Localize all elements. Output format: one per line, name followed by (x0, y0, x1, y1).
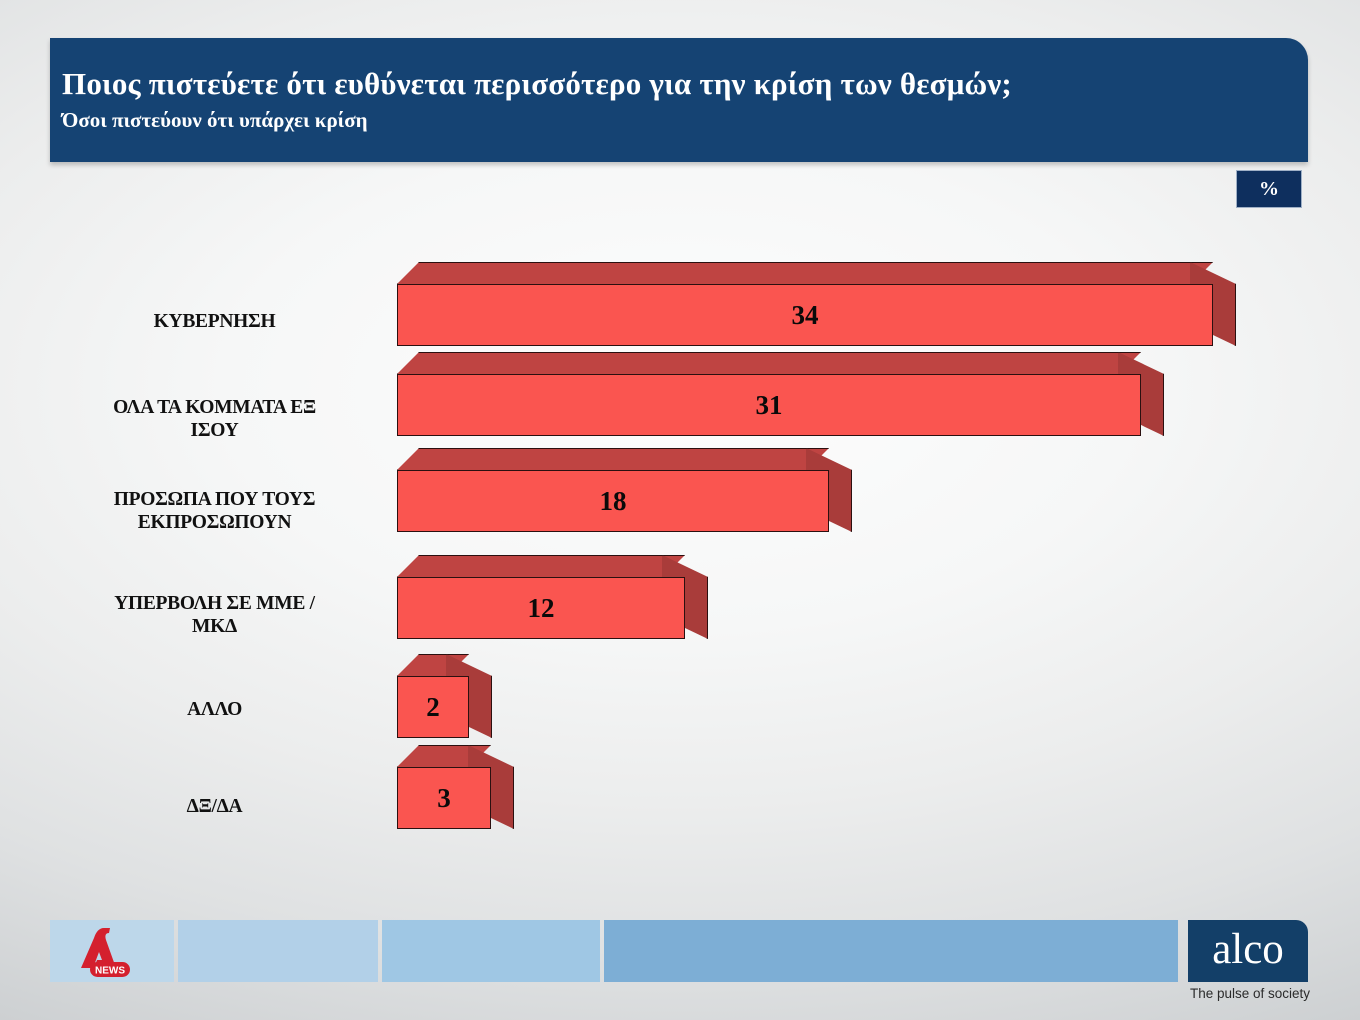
footer-block-3 (382, 920, 600, 982)
alpha-news-word: NEWS (95, 966, 125, 977)
category-label-line1: ΟΛΑ ΤΑ ΚΟΜΜΑΤΑ ΕΞ (113, 397, 316, 418)
bar-front-face: 12 (397, 577, 685, 639)
bar-front-face: 2 (397, 676, 469, 738)
title-banner: Ποιος πιστεύετε ότι ευθύνεται περισσότερ… (50, 38, 1308, 162)
category-label-line1: ΥΠΕΡΒΟΛΗ ΣΕ ΜΜΕ / (114, 593, 315, 614)
bar-top-face (397, 448, 829, 470)
bar-top-face (397, 352, 1141, 374)
category-label-kyvernisi: ΚΥΒΕΡΝΗΣΗ (62, 310, 367, 333)
percent-unit-badge: % (1236, 170, 1302, 208)
bar-front-face: 3 (397, 767, 491, 829)
bar-front-face: 18 (397, 470, 829, 532)
bar-front-face: 34 (397, 284, 1213, 346)
bar-value-label: 31 (756, 390, 783, 421)
bar-value-label: 34 (792, 300, 819, 331)
category-label-line1: ΑΛΛΟ (187, 699, 242, 720)
bar-value-label: 3 (437, 783, 451, 814)
category-label-line1: ΔΞ/ΔΑ (187, 796, 243, 817)
bar-value-label: 18 (600, 486, 627, 517)
bar-top-face (397, 262, 1213, 284)
bar-front-face: 31 (397, 374, 1141, 436)
footer-block-4 (604, 920, 1178, 982)
footer-bar: NEWS alco The pulse of society (0, 920, 1360, 1020)
alpha-news-logo: NEWS (72, 924, 152, 980)
alco-logo-box: alco (1188, 920, 1308, 982)
category-label-line1: ΚΥΒΕΡΝΗΣΗ (154, 311, 276, 332)
alco-tagline: The pulse of society (1188, 986, 1312, 1001)
category-label-ypervoli: ΥΠΕΡΒΟΛΗ ΣΕ ΜΜΕ / ΜΚΔ (62, 592, 367, 639)
category-label-dksda: ΔΞ/ΔΑ (62, 795, 367, 818)
category-label-prosopa: ΠΡΟΣΩΠΑ ΠΟΥ ΤΟΥΣ ΕΚΠΡΟΣΩΠΟΥΝ (62, 488, 367, 535)
category-label-ola-ta-kommata: ΟΛΑ ΤΑ ΚΟΜΜΑΤΑ ΕΞ ΙΣΟΥ (62, 396, 367, 443)
category-label-line2: ΕΚΠΡΟΣΩΠΟΥΝ (138, 512, 291, 533)
category-label-allo: ΑΛΛΟ (62, 698, 367, 721)
bar-value-label: 2 (426, 692, 440, 723)
category-label-line2: ΜΚΔ (192, 616, 237, 637)
bar-value-label: 12 (528, 593, 555, 624)
category-label-line2: ΙΣΟΥ (191, 420, 239, 441)
slide-canvas: Ποιος πιστεύετε ότι ευθύνεται περισσότερ… (0, 0, 1360, 1020)
footer-block-2 (178, 920, 378, 982)
bar-top-face (397, 555, 685, 577)
page-subtitle: Όσοι πιστεύουν ότι υπάρχει κρίση (62, 108, 368, 133)
category-label-line1: ΠΡΟΣΩΠΑ ΠΟΥ ΤΟΥΣ (114, 489, 315, 510)
alco-logo-text: alco (1212, 928, 1284, 971)
page-title: Ποιος πιστεύετε ότι ευθύνεται περισσότερ… (62, 66, 1012, 102)
